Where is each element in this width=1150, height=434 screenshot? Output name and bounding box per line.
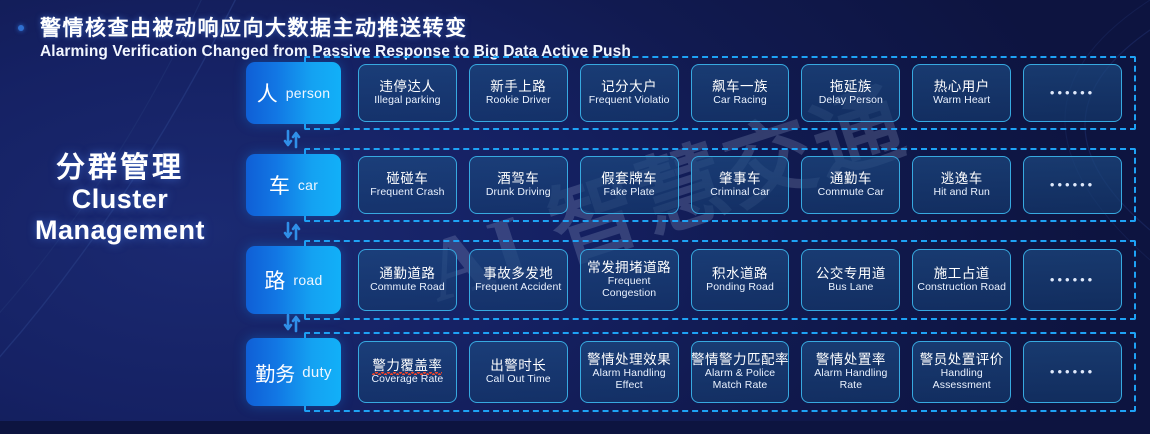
card-label-en: Coverage Rate <box>368 374 446 386</box>
category-card[interactable]: 事故多发地Frequent Accident <box>469 249 568 311</box>
category-row: 路road通勤道路Commute Road事故多发地Frequent Accid… <box>246 240 1136 320</box>
category-tab-label-en: car <box>298 177 318 193</box>
category-card[interactable]: 常发拥堵道路Frequent Congestion <box>580 249 679 311</box>
card-label-cn: •••••• <box>1050 365 1095 380</box>
category-card[interactable]: 公交专用道Bus Lane <box>801 249 900 311</box>
card-label-cn: •••••• <box>1050 86 1095 101</box>
card-label-cn: 警情处置率 <box>816 352 886 367</box>
category-card[interactable]: 警员处置评价Handling Assessment <box>912 341 1011 403</box>
card-label-en: Construction Road <box>914 282 1009 294</box>
category-tab-label-cn: 人 <box>257 78 279 108</box>
category-tab-label-cn: 勤务 <box>255 358 295 387</box>
card-label-en: Commute Car <box>815 187 887 199</box>
card-label-cn: •••••• <box>1050 178 1095 193</box>
category-tab-label-cn: 车 <box>269 170 291 200</box>
category-card[interactable]: 警情处理效果Alarm Handling Effect <box>580 341 679 403</box>
card-label-en: Rookie Driver <box>483 95 554 107</box>
card-label-en: Illegal parking <box>371 95 443 107</box>
card-label-en: Drunk Driving <box>483 187 554 199</box>
category-tab-label-cn: 路 <box>264 265 286 295</box>
category-card[interactable]: 施工占道Construction Road <box>912 249 1011 311</box>
category-card[interactable]: 通勤道路Commute Road <box>358 249 457 311</box>
card-label-cn: 出警时长 <box>490 358 546 373</box>
page-header: 警情核查由被动响应向大数据主动推送转变 Alarming Verificatio… <box>0 0 631 61</box>
card-label-ghost: 警情警力匹配率 <box>691 352 789 367</box>
cluster-label-en-line2: Management <box>0 215 240 245</box>
spellcheck-underline: 警力覆盖率 <box>372 358 442 373</box>
category-tab-person[interactable]: 人person <box>246 62 341 124</box>
category-card[interactable]: 飙车一族Car Racing <box>691 64 790 122</box>
card-list: 警力覆盖率Coverage Rate出警时长Call Out Time警情处理效… <box>316 332 1128 412</box>
card-label-en: Frequent Congestion <box>581 276 678 300</box>
category-tab-road[interactable]: 路road <box>246 246 341 314</box>
cluster-label-en-line1: Cluster <box>0 184 240 214</box>
cluster-management-label: 分群管理 Cluster Management <box>0 152 240 245</box>
card-label-cn: 积水道路 <box>712 266 768 281</box>
category-card[interactable]: 热心用户Warm Heart <box>912 64 1011 122</box>
category-card[interactable]: 逃逸车Hit and Run <box>912 156 1011 214</box>
category-card[interactable]: 积水道路Ponding Road <box>691 249 790 311</box>
card-list: 通勤道路Commute Road事故多发地Frequent Accident常发… <box>316 240 1128 320</box>
category-tab-duty[interactable]: 勤务duty <box>246 338 341 406</box>
card-label-en: Delay Person <box>816 95 886 107</box>
up-down-arrow-icon <box>282 312 304 334</box>
card-more-placeholder[interactable]: •••••• <box>1023 64 1122 122</box>
card-label-en: Frequent Crash <box>367 187 447 199</box>
card-label-cn: 热心用户 <box>934 79 990 94</box>
category-card[interactable]: 出警时长Call Out Time <box>469 341 568 403</box>
category-tab-car[interactable]: 车car <box>246 154 341 216</box>
up-down-arrow-icon <box>282 220 304 242</box>
card-label-cn: 施工占道 <box>934 266 990 281</box>
category-card[interactable]: 拖延族Delay Person <box>801 64 900 122</box>
card-label-en: Frequent Accident <box>472 282 564 294</box>
card-label-cn: 警员处置评价 <box>920 352 1004 367</box>
card-more-placeholder[interactable]: •••••• <box>1023 341 1122 403</box>
bullet-dot-icon <box>18 25 24 31</box>
up-down-arrow-icon <box>282 128 304 150</box>
card-label-en: Hit and Run <box>930 187 993 199</box>
card-label-en: Frequent Violatio <box>586 95 673 107</box>
category-row: 车car碰碰车Frequent Crash酒驾车Drunk Driving假套牌… <box>246 148 1136 222</box>
card-label-en: Bus Lane <box>825 282 876 294</box>
page-title-cn: 警情核查由被动响应向大数据主动推送转变 <box>40 12 631 42</box>
category-card[interactable]: 酒驾车Drunk Driving <box>469 156 568 214</box>
card-label-cn: 通勤车 <box>830 171 872 186</box>
card-label-cn: 常发拥堵道路 <box>587 261 671 275</box>
category-card[interactable]: 假套牌车Fake Plate <box>580 156 679 214</box>
category-card[interactable]: 违停达人Illegal parking <box>358 64 457 122</box>
category-card[interactable]: 碰碰车Frequent Crash <box>358 156 457 214</box>
card-label-en: Ponding Road <box>703 282 777 294</box>
card-list: 碰碰车Frequent Crash酒驾车Drunk Driving假套牌车Fak… <box>316 148 1128 222</box>
card-label-en: Alarm & Police Match Rate <box>692 368 789 392</box>
category-tab-label-en: person <box>286 85 331 101</box>
category-card[interactable]: 肇事车Criminal Car <box>691 156 790 214</box>
card-label-cn: 记分大户 <box>601 79 657 94</box>
category-card[interactable]: 新手上路Rookie Driver <box>469 64 568 122</box>
category-card[interactable]: 警情处置率Alarm Handling Rate <box>801 341 900 403</box>
category-tab-label-en: duty <box>302 364 332 381</box>
card-label-cn: •••••• <box>1050 273 1095 288</box>
card-label-cn: 事故多发地 <box>483 266 553 281</box>
card-label-cn: 警情处理效果 <box>587 352 671 367</box>
card-label-cn: 飙车一族 <box>712 79 768 94</box>
card-label-en: Car Racing <box>710 95 770 107</box>
card-label-en: Commute Road <box>367 282 448 294</box>
card-label-en: Handling Assessment <box>913 368 1010 392</box>
card-label-cn: 警力覆盖率 <box>372 358 442 373</box>
card-label-cn: 肇事车 <box>719 171 761 186</box>
category-card[interactable]: 记分大户Frequent Violatio <box>580 64 679 122</box>
card-label-cn: 碰碰车 <box>386 171 428 186</box>
category-card[interactable]: 警情警力匹配率Alarm & Police Match Rate <box>691 341 790 403</box>
category-row: 人person违停达人Illegal parking新手上路Rookie Dri… <box>246 56 1136 130</box>
cluster-label-cn: 分群管理 <box>0 152 240 184</box>
card-label-cn: 新手上路 <box>490 79 546 94</box>
card-more-placeholder[interactable]: •••••• <box>1023 156 1122 214</box>
card-label-cn: 违停达人 <box>379 79 435 94</box>
card-label-cn: 警情警力匹配率 <box>691 352 789 367</box>
card-label-en: Warm Heart <box>930 95 993 107</box>
card-label-en: Alarm Handling Effect <box>581 368 678 392</box>
category-tab-label-en: road <box>293 272 322 288</box>
card-label-cn: 公交专用道 <box>816 266 886 281</box>
category-card[interactable]: 通勤车Commute Car <box>801 156 900 214</box>
card-label-en: Fake Plate <box>601 187 658 199</box>
category-row: 勤务duty警力覆盖率Coverage Rate出警时长Call Out Tim… <box>246 332 1136 412</box>
card-label-cn: 假套牌车 <box>601 171 657 186</box>
card-label-cn: 酒驾车 <box>497 171 539 186</box>
category-rows: 人person违停达人Illegal parking新手上路Rookie Dri… <box>246 56 1136 424</box>
card-label-cn: 通勤道路 <box>379 266 435 281</box>
card-label-en: Criminal Car <box>707 187 773 199</box>
card-label-cn: 逃逸车 <box>941 171 983 186</box>
card-more-placeholder[interactable]: •••••• <box>1023 249 1122 311</box>
card-list: 违停达人Illegal parking新手上路Rookie Driver记分大户… <box>316 56 1128 130</box>
card-label-en: Alarm Handling Rate <box>802 368 899 392</box>
card-label-cn: 拖延族 <box>830 79 872 94</box>
category-card[interactable]: 警力覆盖率Coverage Rate <box>358 341 457 403</box>
card-label-en: Call Out Time <box>483 374 554 386</box>
